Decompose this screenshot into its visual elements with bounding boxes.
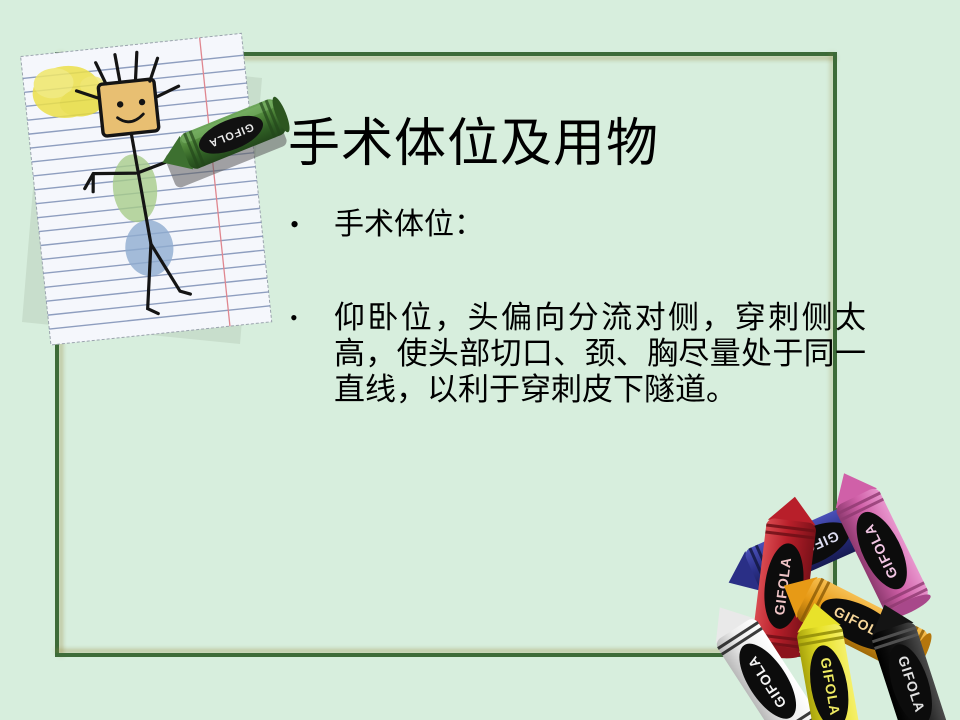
slide-canvas: GIFOLA <box>0 0 960 720</box>
crayon-pile-image: GIFOLA GIFOLA GIFOLA <box>690 462 960 720</box>
lined-paper <box>21 33 272 345</box>
bullet-heading-text: 手术体位： <box>334 206 866 244</box>
slide-body-list: • 手术体位： • 仰卧位，头偏向分流对侧，穿刺侧太高，使头部切口、颈、胸尽量处… <box>286 206 866 408</box>
slide-title: 手术体位及用物 <box>288 116 659 174</box>
bullet-marker-icon: • <box>286 206 334 244</box>
child-crayon-drawing-image: GIFOLA <box>18 22 328 367</box>
bullet-item-detail: • 仰卧位，头偏向分流对侧，穿刺侧太高，使头部切口、颈、胸尽量处于同一直线，以利… <box>286 300 866 408</box>
bullet-marker-icon: • <box>286 300 334 336</box>
bullet-item-heading: • 手术体位： <box>286 206 866 244</box>
bullet-detail-text: 仰卧位，头偏向分流对侧，穿刺侧太高，使头部切口、颈、胸尽量处于同一直线，以利于穿… <box>334 300 866 408</box>
